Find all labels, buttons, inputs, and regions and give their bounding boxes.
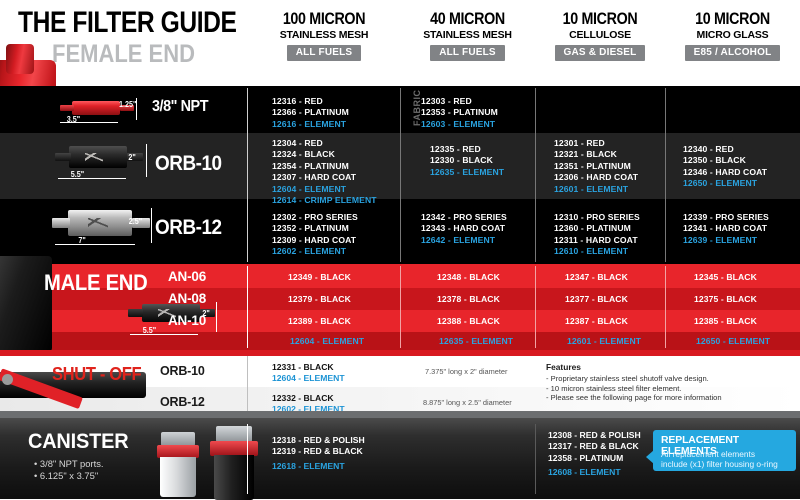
element-part-number: 12610 - ELEMENT bbox=[554, 246, 640, 257]
part-number-cell: 12304 - RED 12324 - BLACK 12354 - PLATIN… bbox=[272, 138, 377, 206]
part-number: 12379 - BLACK bbox=[288, 294, 351, 304]
section-divider-bar bbox=[0, 411, 800, 418]
dimension-length: 7" bbox=[78, 236, 85, 245]
dimension-length: 5.5" bbox=[71, 170, 84, 179]
element-part-number: 12604 - ELEMENT bbox=[272, 184, 377, 195]
part-number: 12348 - BLACK bbox=[437, 272, 500, 282]
column-micron-label: 40 MICRON bbox=[411, 10, 524, 28]
features-title: Features bbox=[546, 362, 581, 372]
element-part-number: 12603 - ELEMENT bbox=[421, 119, 498, 130]
part-number: 12360 - PLATINUM bbox=[554, 223, 640, 234]
element-part-number: 12604 - ELEMENT bbox=[272, 373, 345, 384]
column-divider bbox=[247, 424, 248, 494]
dimension-length: 5.5" bbox=[143, 326, 156, 335]
part-number-cell: 12310 - PRO SERIES 12360 - PLATINUM 1231… bbox=[554, 212, 640, 258]
dimension-line bbox=[216, 302, 217, 332]
part-number: 12321 - BLACK bbox=[554, 149, 638, 160]
element-part-number: 12618 - ELEMENT bbox=[272, 461, 365, 472]
element-part-number: 12635 - ELEMENT bbox=[430, 167, 504, 178]
size-label-an10: AN-10 bbox=[168, 313, 206, 328]
brand-logo-icon bbox=[85, 153, 103, 162]
male-end-section: MALE END 5.5" 2" AN-06 AN-08 AN-10 12349… bbox=[0, 264, 800, 350]
part-number: 12307 - HARD COAT bbox=[272, 172, 377, 183]
page-subtitle: FEMALE END bbox=[52, 40, 195, 69]
part-number: 12351 - PLATINUM bbox=[554, 161, 638, 172]
column-divider bbox=[247, 88, 248, 262]
part-number-cell: 12301 - RED 12321 - BLACK 12351 - PLATIN… bbox=[554, 138, 638, 195]
part-number: 12366 - PLATINUM bbox=[272, 107, 349, 118]
female-end-section: 3.5" 1.25" 3/8" NPT 12316 - RED 12366 - … bbox=[0, 86, 800, 264]
page-header: THE FILTER GUIDE FEMALE END 100 MICRON S… bbox=[0, 0, 800, 86]
canister-title: CANISTER bbox=[28, 430, 128, 454]
element-part-number: 12642 - ELEMENT bbox=[421, 235, 507, 246]
canister-graphic-polish bbox=[155, 432, 201, 494]
part-number: 12342 - PRO SERIES bbox=[421, 212, 507, 223]
column-divider bbox=[535, 266, 536, 348]
part-number: 12353 - PLATINUM bbox=[421, 107, 498, 118]
part-number-cell: 12342 - PRO SERIES 12343 - HARD COAT 126… bbox=[421, 212, 507, 246]
dimension-diameter: 2" bbox=[128, 153, 135, 162]
replacement-elements-callout: REPLACEMENT ELEMENTS All replacement ele… bbox=[653, 430, 796, 471]
element-part-number: 12614 - CRIMP ELEMENT bbox=[272, 195, 377, 206]
part-number: 12304 - RED bbox=[272, 138, 377, 149]
dimension-diameter: 2.5" bbox=[129, 217, 142, 226]
size-label-an06: AN-06 bbox=[168, 269, 206, 284]
element-part-number: 12616 - ELEMENT bbox=[272, 119, 349, 130]
dimension-line bbox=[58, 178, 126, 179]
column-micron-label: 10 MICRON bbox=[545, 10, 654, 28]
feature-item: - Proprietary stainless steel shutoff va… bbox=[546, 374, 722, 384]
column-material-label: STAINLESS MESH bbox=[400, 29, 535, 41]
dimension-line bbox=[146, 144, 147, 177]
column-fuel-badge: GAS & DIESEL bbox=[555, 45, 646, 61]
part-number-cell: 12335 - RED 12330 - BLACK 12635 - ELEMEN… bbox=[430, 144, 504, 178]
part-number: 12332 - BLACK bbox=[272, 393, 345, 404]
part-number-cell: 12308 - RED & POLISH 12317 - RED & BLACK… bbox=[548, 430, 641, 479]
element-part-number: 12608 - ELEMENT bbox=[548, 467, 641, 478]
part-number: 12302 - PRO SERIES bbox=[272, 212, 358, 223]
column-divider bbox=[535, 88, 536, 262]
column-header-40-micron: 40 MICRON STAINLESS MESH ALL FUELS bbox=[400, 10, 535, 61]
part-number-cell: 12331 - BLACK 12604 - ELEMENT bbox=[272, 362, 345, 385]
feature-item: - 10 micron stainless steel filter eleme… bbox=[546, 384, 722, 394]
part-number: 12318 - RED & POLISH bbox=[272, 435, 365, 446]
dimension-line bbox=[130, 334, 198, 335]
part-number: 12352 - PLATINUM bbox=[272, 223, 358, 234]
part-number: 12316 - RED bbox=[272, 96, 349, 107]
product-label-orb12: ORB-12 bbox=[155, 216, 222, 240]
canister-spec-item: • 3/8" NPT ports. bbox=[34, 458, 103, 470]
part-number-cell: 12340 - RED 12350 - BLACK 12346 - HARD C… bbox=[683, 144, 767, 190]
column-fuel-badge: ALL FUELS bbox=[430, 45, 505, 61]
part-number: 12385 - BLACK bbox=[694, 316, 757, 326]
dimension-length: 3.5" bbox=[67, 115, 80, 124]
shut-off-title: SHUT - OFF bbox=[52, 364, 141, 385]
dimension-line bbox=[151, 208, 152, 243]
dimension-text: 7.375" long x 2" diameter bbox=[425, 367, 508, 376]
shut-off-section: SHUT - OFF ORB-10 ORB-12 12331 - BLACK 1… bbox=[0, 350, 800, 418]
part-number: 12347 - BLACK bbox=[565, 272, 628, 282]
part-number: 12387 - BLACK bbox=[565, 316, 628, 326]
element-part-number: 12650 - ELEMENT bbox=[696, 336, 770, 346]
part-number: 12389 - BLACK bbox=[288, 316, 351, 326]
part-number: 12388 - BLACK bbox=[437, 316, 500, 326]
column-fuel-badge: ALL FUELS bbox=[287, 45, 362, 61]
part-number: 12301 - RED bbox=[554, 138, 638, 149]
feature-item: - Please see the following page for more… bbox=[546, 393, 722, 403]
part-number-cell: 12302 - PRO SERIES 12352 - PLATINUM 1230… bbox=[272, 212, 358, 258]
column-divider bbox=[400, 266, 401, 348]
part-number-cell: 12303 - RED 12353 - PLATINUM 12603 - ELE… bbox=[421, 96, 498, 130]
part-number: 12331 - BLACK bbox=[272, 362, 345, 373]
part-number: 12349 - BLACK bbox=[288, 272, 351, 282]
element-part-number: 12639 - ELEMENT bbox=[683, 235, 769, 246]
dimension-diameter: 1.25" bbox=[119, 100, 136, 109]
part-number: 12350 - BLACK bbox=[683, 155, 767, 166]
column-divider bbox=[665, 266, 666, 348]
element-part-number: 12650 - ELEMENT bbox=[683, 178, 767, 189]
part-number: 12330 - BLACK bbox=[430, 155, 504, 166]
column-divider bbox=[665, 88, 666, 262]
part-number: 12378 - BLACK bbox=[437, 294, 500, 304]
element-part-number: 12635 - ELEMENT bbox=[439, 336, 513, 346]
part-number: 12354 - PLATINUM bbox=[272, 161, 377, 172]
column-material-label: MICRO GLASS bbox=[665, 29, 800, 41]
canister-graphic-black bbox=[208, 426, 260, 498]
size-label-an08: AN-08 bbox=[168, 291, 206, 306]
column-header-10-micron-cellulose: 10 MICRON CELLULOSE GAS & DIESEL bbox=[535, 10, 665, 61]
part-number: 12303 - RED bbox=[421, 96, 498, 107]
part-number: 12306 - HARD COAT bbox=[554, 172, 638, 183]
part-number: 12310 - PRO SERIES bbox=[554, 212, 640, 223]
part-number: 12377 - BLACK bbox=[565, 294, 628, 304]
column-header-10-micron-micro-glass: 10 MICRON MICRO GLASS E85 / ALCOHOL bbox=[665, 10, 800, 61]
part-number: 12319 - RED & BLACK bbox=[272, 446, 365, 457]
column-divider bbox=[247, 266, 248, 348]
element-part-number: 12604 - ELEMENT bbox=[290, 336, 364, 346]
column-micron-label: 10 MICRON bbox=[676, 10, 789, 28]
part-number: 12358 - PLATINUM bbox=[548, 453, 641, 464]
replacement-elements-note: All replacement elements include (x1) fi… bbox=[661, 449, 778, 470]
product-label-orb10: ORB-10 bbox=[160, 364, 205, 378]
part-number: 12311 - HARD COAT bbox=[554, 235, 640, 246]
column-material-label: STAINLESS MESH bbox=[248, 29, 400, 41]
part-number: 12345 - BLACK bbox=[694, 272, 757, 282]
column-fuel-badge: E85 / ALCOHOL bbox=[685, 45, 781, 61]
column-header-100-micron: 100 MICRON STAINLESS MESH ALL FUELS bbox=[248, 10, 400, 61]
replacement-note-line: All replacement elements bbox=[661, 449, 778, 459]
replacement-note-line: include (x1) filter housing o-ring bbox=[661, 459, 778, 469]
part-number: 12335 - RED bbox=[430, 144, 504, 155]
column-micron-label: 100 MICRON bbox=[260, 10, 388, 28]
brand-logo-icon bbox=[88, 218, 108, 228]
part-number: 12343 - HARD COAT bbox=[421, 223, 507, 234]
product-label-orb10: ORB-10 bbox=[155, 152, 222, 176]
part-number-cell: 12318 - RED & POLISH 12319 - RED & BLACK… bbox=[272, 435, 365, 472]
part-number-cell: 12316 - RED 12366 - PLATINUM 12616 - ELE… bbox=[272, 96, 349, 130]
column-divider bbox=[400, 88, 401, 262]
dimension-line bbox=[55, 244, 135, 245]
column-material-label: CELLULOSE bbox=[535, 29, 665, 41]
features-list: - Proprietary stainless steel shutoff va… bbox=[546, 374, 722, 403]
product-label-npt: 3/8" NPT bbox=[152, 98, 208, 116]
part-number: 12341 - HARD COAT bbox=[683, 223, 769, 234]
element-part-number: 12601 - ELEMENT bbox=[567, 336, 641, 346]
column-divider bbox=[535, 424, 536, 494]
page-title: THE FILTER GUIDE bbox=[18, 6, 236, 40]
part-number: 12308 - RED & POLISH bbox=[548, 430, 641, 441]
filter-guide-page: THE FILTER GUIDE FEMALE END 100 MICRON S… bbox=[0, 0, 800, 499]
column-divider bbox=[247, 356, 248, 418]
dimension-text: 8.875" long x 2.5" diameter bbox=[423, 398, 512, 407]
canister-specs: • 3/8" NPT ports. • 6.125" x 3.75" bbox=[34, 458, 103, 483]
part-number: 12317 - RED & BLACK bbox=[548, 441, 641, 452]
element-part-number: 12602 - ELEMENT bbox=[272, 246, 358, 257]
part-number: 12324 - BLACK bbox=[272, 149, 377, 160]
part-number: 12375 - BLACK bbox=[694, 294, 757, 304]
part-number-cell: 12339 - PRO SERIES 12341 - HARD COAT 126… bbox=[683, 212, 769, 246]
part-number: 12309 - HARD COAT bbox=[272, 235, 358, 246]
product-label-orb12: ORB-12 bbox=[160, 395, 205, 409]
part-number: 12339 - PRO SERIES bbox=[683, 212, 769, 223]
part-number: 12346 - HARD COAT bbox=[683, 167, 767, 178]
element-part-number: 12601 - ELEMENT bbox=[554, 184, 638, 195]
canister-spec-item: • 6.125" x 3.75" bbox=[34, 470, 103, 482]
part-number: 12340 - RED bbox=[683, 144, 767, 155]
male-end-title: MALE END bbox=[44, 270, 148, 296]
